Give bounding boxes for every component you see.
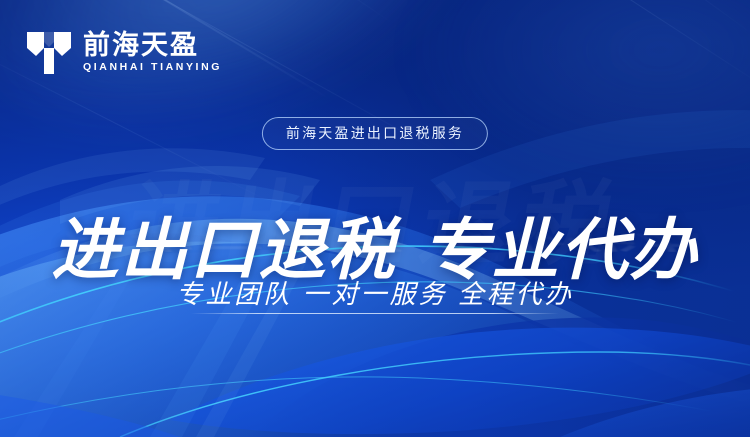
subtitle-divider bbox=[191, 313, 559, 314]
brand-logo[interactable]: 前海天盈 QIANHAI TIANYING bbox=[26, 27, 222, 77]
logo-y-mark-icon bbox=[26, 27, 72, 77]
logo-text-block: 前海天盈 QIANHAI TIANYING bbox=[83, 31, 222, 74]
subtitle: 专业团队 一对一服务 全程代办 bbox=[0, 274, 750, 311]
logo-name-cn: 前海天盈 bbox=[83, 31, 222, 59]
logo-name-en: QIANHAI TIANYING bbox=[83, 62, 222, 74]
banner-content: 前海天盈 QIANHAI TIANYING 前海天盈进出口退税服务 进出口退税专… bbox=[0, 0, 750, 437]
promo-banner: 进出口退税 bbox=[0, 0, 750, 437]
service-badge: 前海天盈进出口退税服务 bbox=[262, 117, 488, 150]
